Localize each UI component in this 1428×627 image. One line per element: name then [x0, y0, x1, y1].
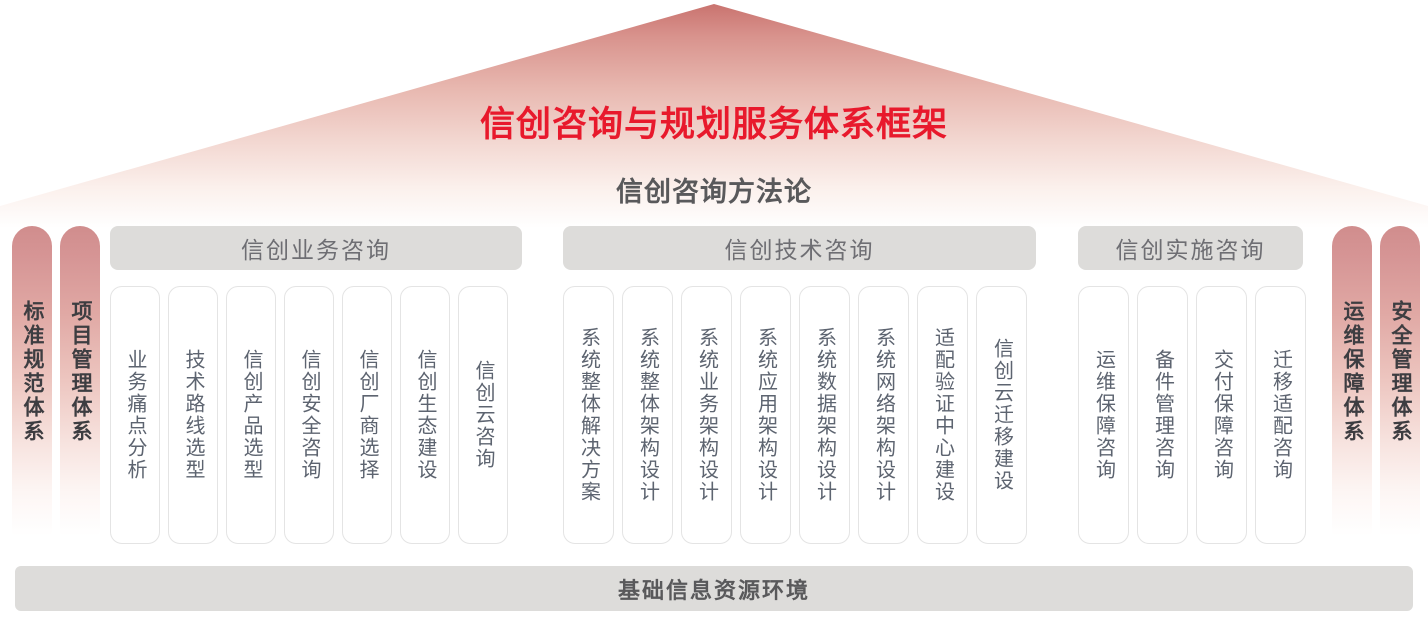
item-card[interactable]: 系统整体架构设计	[622, 286, 673, 544]
item-label: 信创产品选型	[239, 349, 263, 481]
item-label: 运维保障咨询	[1092, 349, 1116, 481]
pillar-label: 标准规范体系	[12, 300, 52, 444]
item-label: 系统业务架构设计	[695, 327, 719, 503]
pillar-security-management[interactable]: 安全管理体系	[1380, 226, 1420, 536]
pillar-label: 安全管理体系	[1380, 300, 1420, 444]
foundation-bar[interactable]: 基础信息资源环境	[15, 566, 1413, 611]
group-header-technology[interactable]: 信创技术咨询	[563, 226, 1036, 270]
item-label: 技术路线选型	[181, 349, 205, 481]
group-business-consulting: 信创业务咨询 业务痛点分析 技术路线选型 信创产品选型 信创安全咨询 信创厂商选…	[110, 226, 522, 270]
item-label: 信创云迁移建设	[990, 338, 1014, 492]
item-label: 信创安全咨询	[297, 349, 321, 481]
item-card[interactable]: 信创生态建设	[400, 286, 450, 544]
diagram-canvas: 信创咨询与规划服务体系框架 信创咨询方法论 标准规范体系 项目管理体系 信创业务…	[0, 0, 1428, 627]
group-items-implementation: 运维保障咨询 备件管理咨询 交付保障咨询 迁移适配咨询	[1078, 286, 1306, 544]
item-card[interactable]: 技术路线选型	[168, 286, 218, 544]
item-card[interactable]: 系统数据架构设计	[799, 286, 850, 544]
item-label: 迁移适配咨询	[1269, 349, 1293, 481]
item-label: 信创云咨询	[471, 360, 495, 470]
pillar-label: 项目管理体系	[60, 300, 100, 444]
group-items-technology: 系统整体解决方案 系统整体架构设计 系统业务架构设计 系统应用架构设计 系统数据…	[563, 286, 1027, 544]
item-label: 业务痛点分析	[123, 349, 147, 481]
pillar-standard-spec[interactable]: 标准规范体系	[12, 226, 52, 536]
item-label: 系统整体架构设计	[636, 327, 660, 503]
pillar-operations-support[interactable]: 运维保障体系	[1332, 226, 1372, 536]
pillar-label: 运维保障体系	[1332, 300, 1372, 444]
item-card[interactable]: 信创云咨询	[458, 286, 508, 544]
item-card[interactable]: 适配验证中心建设	[917, 286, 968, 544]
item-label: 信创生态建设	[413, 349, 437, 481]
group-items-business: 业务痛点分析 技术路线选型 信创产品选型 信创安全咨询 信创厂商选择 信创生态建…	[110, 286, 508, 544]
group-implementation-consulting: 信创实施咨询 运维保障咨询 备件管理咨询 交付保障咨询 迁移适配咨询	[1078, 226, 1303, 270]
group-header-business[interactable]: 信创业务咨询	[110, 226, 522, 270]
item-card[interactable]: 系统业务架构设计	[681, 286, 732, 544]
item-label: 备件管理咨询	[1151, 349, 1175, 481]
item-label: 系统应用架构设计	[754, 327, 778, 503]
item-card[interactable]: 信创安全咨询	[284, 286, 334, 544]
item-card[interactable]: 交付保障咨询	[1196, 286, 1247, 544]
item-label: 信创厂商选择	[355, 349, 379, 481]
item-label: 系统整体解决方案	[577, 327, 601, 503]
page-title: 信创咨询与规划服务体系框架	[0, 96, 1428, 147]
group-header-implementation[interactable]: 信创实施咨询	[1078, 226, 1303, 270]
item-card[interactable]: 迁移适配咨询	[1255, 286, 1306, 544]
item-label: 适配验证中心建设	[931, 327, 955, 503]
item-label: 系统网络架构设计	[872, 327, 896, 503]
item-card[interactable]: 运维保障咨询	[1078, 286, 1129, 544]
item-label: 交付保障咨询	[1210, 349, 1234, 481]
item-card[interactable]: 系统应用架构设计	[740, 286, 791, 544]
item-card[interactable]: 业务痛点分析	[110, 286, 160, 544]
page-subtitle: 信创咨询方法论	[0, 170, 1428, 209]
roof-triangle: 信创咨询与规划服务体系框架 信创咨询方法论	[0, 0, 1428, 228]
item-label: 系统数据架构设计	[813, 327, 837, 503]
item-card[interactable]: 信创云迁移建设	[976, 286, 1027, 544]
item-card[interactable]: 信创厂商选择	[342, 286, 392, 544]
item-card[interactable]: 备件管理咨询	[1137, 286, 1188, 544]
item-card[interactable]: 系统网络架构设计	[858, 286, 909, 544]
item-card[interactable]: 信创产品选型	[226, 286, 276, 544]
group-technology-consulting: 信创技术咨询 系统整体解决方案 系统整体架构设计 系统业务架构设计 系统应用架构…	[563, 226, 1036, 270]
pillar-project-management[interactable]: 项目管理体系	[60, 226, 100, 536]
item-card[interactable]: 系统整体解决方案	[563, 286, 614, 544]
